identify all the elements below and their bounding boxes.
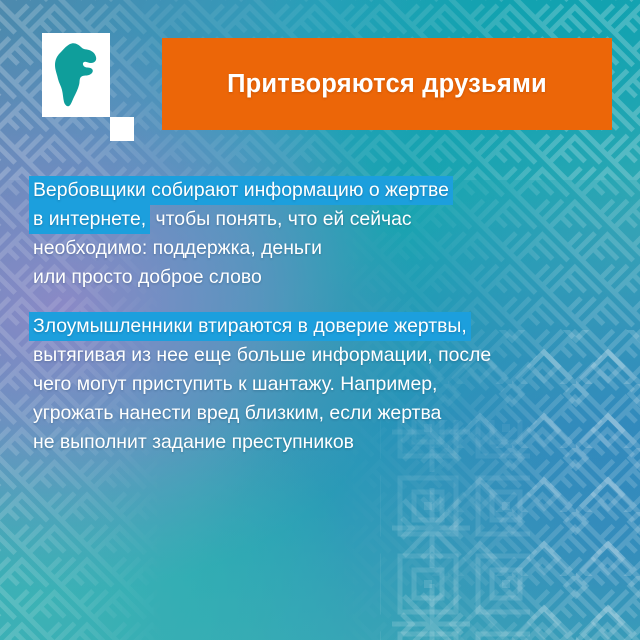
highlighted-text: в интернете, bbox=[29, 205, 150, 234]
plain-text: вытягивая из нее еще больше информации, … bbox=[33, 341, 491, 370]
logo-white-card bbox=[42, 33, 110, 117]
text-line: угрожать нанести вред близким, если жерт… bbox=[33, 399, 600, 428]
text-line: чего могут приступить к шантажу. Наприме… bbox=[33, 370, 600, 399]
plain-text: не выполнит задание преступников bbox=[33, 428, 354, 457]
text-block-2: Злоумышленники втираются в доверие жертв… bbox=[33, 312, 600, 457]
highlighted-text: Вербовщики собирают информацию о жертве bbox=[29, 176, 453, 205]
text-line: или просто доброе слово bbox=[33, 263, 600, 292]
region-map-icon bbox=[50, 41, 102, 109]
text-line: не выполнит задание преступников bbox=[33, 428, 600, 457]
text-line: в интернете, чтобы понять, что ей сейчас bbox=[33, 205, 600, 234]
text-block-1: Вербовщики собирают информацию о жертве … bbox=[33, 176, 600, 292]
plain-text: чтобы понять, что ей сейчас bbox=[150, 205, 411, 234]
text-line: необходимо: поддержка, деньги bbox=[33, 234, 600, 263]
logo-accent-square bbox=[110, 117, 134, 141]
text-line: вытягивая из нее еще больше информации, … bbox=[33, 341, 600, 370]
infographic-card: Притворяются друзьями Вербовщики собираю… bbox=[0, 0, 640, 640]
plain-text: или просто доброе слово bbox=[33, 263, 262, 292]
plain-text: необходимо: поддержка, деньги bbox=[33, 234, 322, 263]
text-line: Вербовщики собирают информацию о жертве bbox=[33, 176, 600, 205]
logo bbox=[42, 33, 130, 145]
text-line: Злоумышленники втираются в доверие жертв… bbox=[33, 312, 600, 341]
plain-text: угрожать нанести вред близким, если жерт… bbox=[33, 399, 441, 428]
highlighted-text: Злоумышленники втираются в доверие жертв… bbox=[29, 312, 471, 341]
plain-text: чего могут приступить к шантажу. Наприме… bbox=[33, 370, 437, 399]
banner-title: Притворяются друзьями bbox=[227, 70, 547, 99]
title-banner: Притворяются друзьями bbox=[162, 38, 612, 130]
